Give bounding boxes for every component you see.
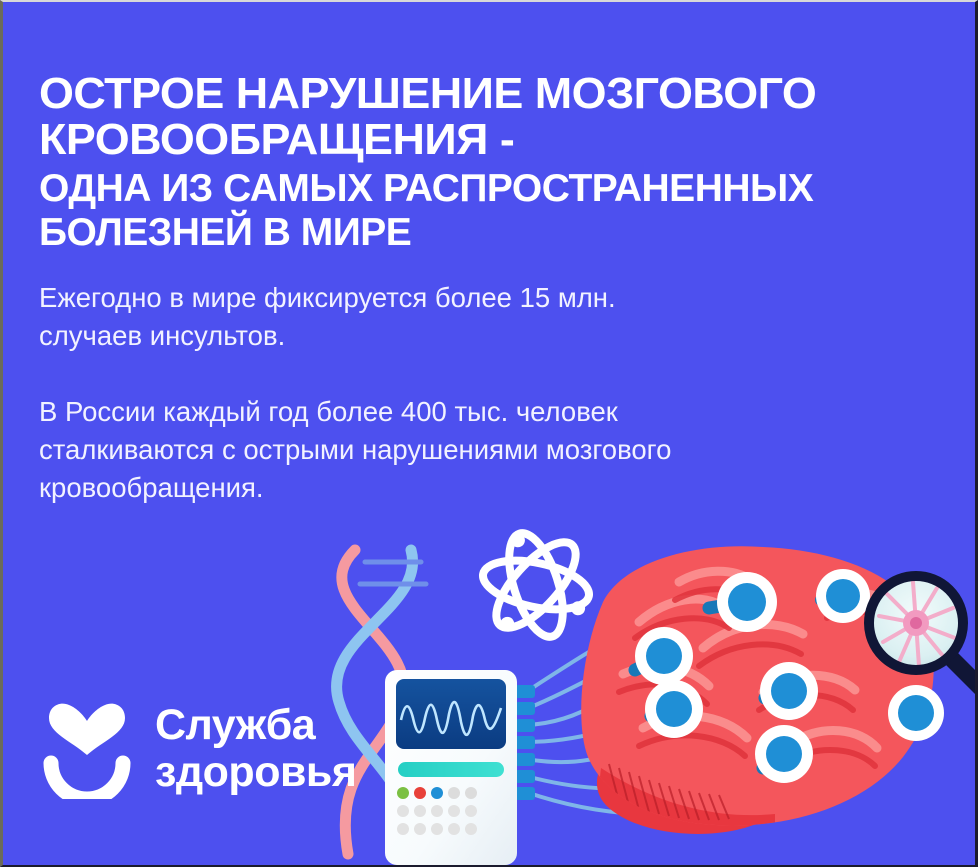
electrode-group xyxy=(635,569,944,783)
electrode xyxy=(888,685,944,741)
page-title: ОСТРОЕ НАРУШЕНИЕ МОЗГОВОГО КРОВООБРАЩЕНИ… xyxy=(39,71,939,255)
paragraph-russia-stats: В России каждый год более 400 тыс. челов… xyxy=(39,393,919,507)
monitor-button-grid xyxy=(397,787,477,835)
magnifying-glass-icon xyxy=(869,576,978,688)
electrode xyxy=(645,680,703,738)
paragraph-world-stats: Ежегодно в мире фиксируется более 15 млн… xyxy=(39,279,919,355)
headline-line-3: ОДНА ИЗ САМЫХ РАСПРОСТРАНЕННЫХ xyxy=(39,167,939,211)
electrode xyxy=(709,572,777,632)
eeg-monitor xyxy=(385,670,517,865)
electrode xyxy=(755,725,813,783)
neuron-icon xyxy=(879,582,955,666)
brand-logo-text: Служба здоровья xyxy=(155,702,356,796)
brand-logo[interactable]: Служба здоровья xyxy=(41,699,356,799)
electrode xyxy=(816,569,870,623)
headline-line-2: КРОВООБРАЩЕНИЯ - xyxy=(39,117,957,163)
heart-smile-icon xyxy=(41,699,133,799)
poster-root: ОСТРОЕ НАРУШЕНИЕ МОЗГОВОГО КРОВООБРАЩЕНИ… xyxy=(0,0,978,867)
headline-line-4: БОЛЕЗНЕЙ В МИРЕ xyxy=(39,211,939,255)
eeg-cables xyxy=(526,594,903,814)
cable-connectors xyxy=(515,685,535,800)
headline-line-1: ОСТРОЕ НАРУШЕНИЕ МОЗГОВОГО xyxy=(39,71,957,117)
electrode xyxy=(635,627,693,685)
body-copy: Ежегодно в мире фиксируется более 15 млн… xyxy=(39,279,919,545)
brain-illustration xyxy=(581,546,933,840)
electrode xyxy=(760,662,818,720)
